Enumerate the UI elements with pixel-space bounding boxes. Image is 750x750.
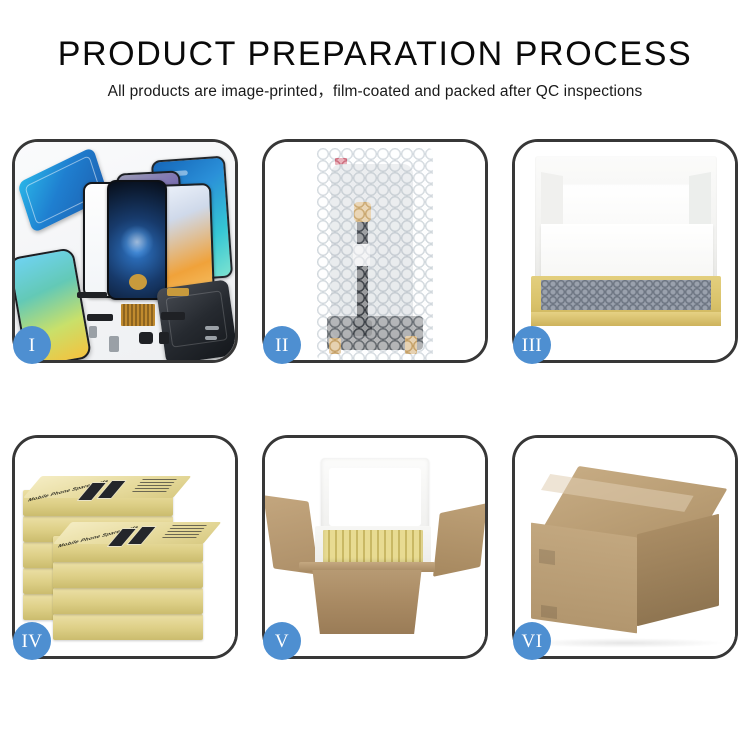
- illustration-open-tray-box: [515, 142, 735, 360]
- retail-box: [53, 614, 203, 640]
- bubble-wrap-bag: [317, 148, 433, 360]
- carton-flap-right: [433, 503, 485, 577]
- panel-image-sealed-carton: [515, 438, 735, 656]
- part-flex-cable-b: [161, 312, 185, 320]
- foam-box-lid: [321, 458, 429, 532]
- part-screw-set: [205, 326, 219, 330]
- panel-sealed-carton[interactable]: VI: [512, 435, 738, 659]
- retail-box: [53, 562, 203, 588]
- part-antenna-strip: [77, 292, 107, 298]
- panel-foam-tray-box[interactable]: III: [512, 139, 738, 363]
- part-sim-tray: [109, 336, 119, 352]
- panel-stacked-retail-boxes[interactable]: Mobile Phone Spare Parts Mobile Phone Sp…: [12, 435, 238, 659]
- illustration-box-stack: Mobile Phone Spare Parts Mobile Phone Sp…: [15, 438, 235, 656]
- carton-handle-tab-bottom: [541, 605, 557, 619]
- process-step-grid: I II: [12, 139, 738, 684]
- part-gold-flex: [167, 288, 189, 296]
- panel-image-foam-tray-box: [515, 142, 735, 360]
- step-badge-1: I: [13, 326, 51, 364]
- retail-box: Mobile Phone Spare Parts: [23, 490, 173, 516]
- illustration-phones-and-parts: [15, 142, 235, 360]
- part-flex-cable-a: [87, 314, 113, 321]
- illustration-bubble-wrap: [265, 142, 485, 360]
- panel-image-bubble-wrapped-screen: [265, 142, 485, 360]
- bubble-texture-overlay: [317, 148, 433, 360]
- panel-bubble-wrapped-screen[interactable]: II: [262, 139, 488, 363]
- retail-box: Mobile Phone Spare Parts: [53, 536, 203, 562]
- tray-front-panel: [531, 312, 721, 326]
- step-badge-5: V: [263, 622, 301, 660]
- spare-parts-cluster: [77, 274, 235, 360]
- step-badge-3: III: [513, 326, 551, 364]
- part-speaker-coil: [129, 274, 147, 290]
- retail-box-lid: Mobile Phone Spare Parts: [23, 476, 191, 498]
- page-subtitle: All products are image-printed，film-coat…: [0, 74, 750, 102]
- panel-carton-with-foam-box[interactable]: V: [262, 435, 488, 659]
- retail-box-lid: Mobile Phone Spare Parts: [53, 522, 221, 544]
- part-screw-set-2: [205, 336, 217, 340]
- page-title: PRODUCT PREPARATION PROCESS: [0, 0, 750, 74]
- part-vibrator: [159, 332, 169, 344]
- part-metal-bracket: [89, 326, 97, 338]
- box-spec-lines: [161, 525, 207, 539]
- foam-sheet: [541, 224, 713, 282]
- panel-image-carton-with-foam-box: [265, 438, 485, 656]
- page-header: PRODUCT PREPARATION PROCESS All products…: [0, 0, 750, 102]
- step-badge-2: II: [263, 326, 301, 364]
- retail-box-stack: Mobile Phone Spare Parts Mobile Phone Sp…: [23, 462, 227, 644]
- carton-side-face: [637, 514, 719, 626]
- panel-products-and-parts[interactable]: I: [12, 139, 238, 363]
- yellow-retail-boxes: [323, 530, 423, 564]
- packed-grey-items: [541, 280, 711, 310]
- step-badge-4: IV: [13, 622, 51, 660]
- kraft-tray: [531, 276, 721, 326]
- carton-handle-tab-top: [539, 549, 555, 565]
- carton-body: [305, 570, 429, 634]
- panel-image-products-and-parts: [15, 142, 235, 360]
- retail-box: [53, 588, 203, 614]
- box-spec-lines: [131, 479, 177, 493]
- illustration-sealed-carton: [515, 438, 735, 656]
- carton-shadow: [525, 638, 725, 648]
- panel-image-stacked-retail-boxes: Mobile Phone Spare Parts Mobile Phone Sp…: [15, 438, 235, 656]
- step-badge-6: VI: [513, 622, 551, 660]
- part-grid-chip: [121, 304, 155, 326]
- part-camera-module: [139, 332, 153, 344]
- illustration-open-carton: [265, 438, 485, 656]
